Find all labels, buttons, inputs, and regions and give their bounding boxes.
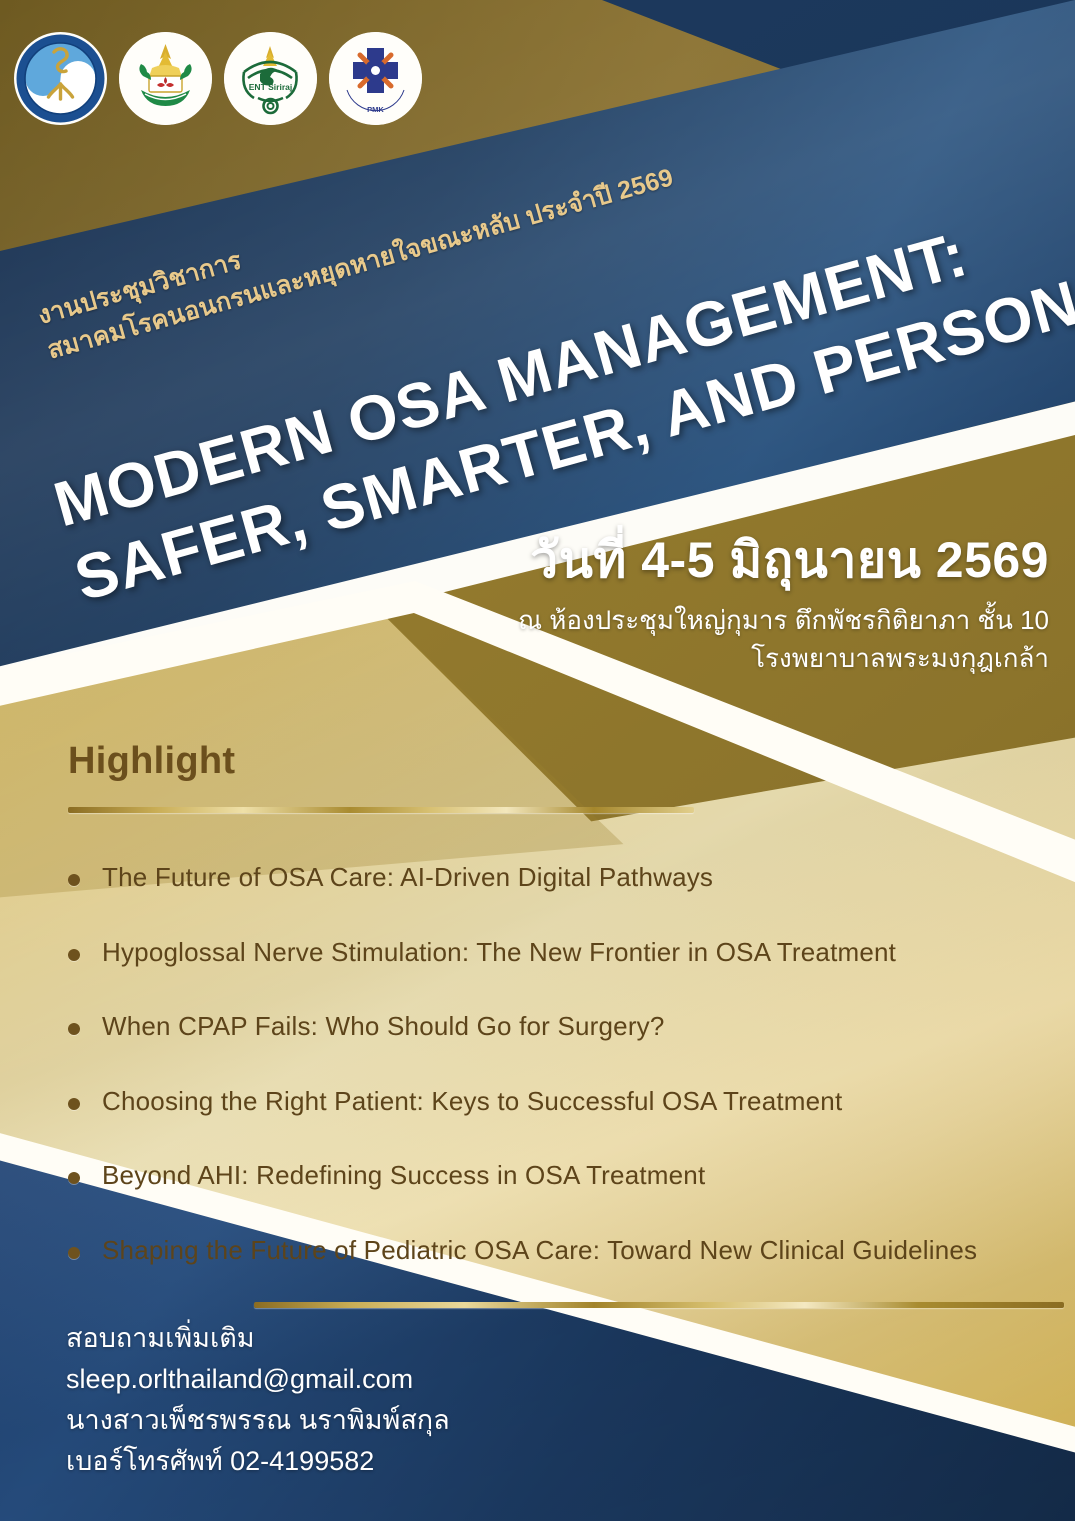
- event-venue-line-2: โรงพยาบาลพระมงกุฎเกล้า: [518, 640, 1049, 678]
- highlight-heading: Highlight: [68, 740, 1048, 783]
- bullet-dot-icon: [68, 949, 80, 961]
- organizer-logo-row: ENT Siriraj PMK: [14, 32, 422, 125]
- highlight-divider-bottom: [254, 1302, 1064, 1308]
- contact-heading: สอบถามเพิ่มเติม: [66, 1318, 450, 1359]
- list-item: The Future of OSA Care: AI-Driven Digita…: [68, 861, 1048, 894]
- bullet-dot-icon: [68, 1098, 80, 1110]
- royal-college-logo: [119, 32, 212, 125]
- ent-siriraj-logo: ENT Siriraj: [224, 32, 317, 125]
- list-item: Hypoglossal Nerve Stimulation: The New F…: [68, 936, 1048, 969]
- event-venue-line-1: ณ ห้องประชุมใหญ่กุมาร ตึกพัชรกิติยาภา ชั…: [518, 602, 1049, 640]
- list-item: Beyond AHI: Redefining Success in OSA Tr…: [68, 1159, 1048, 1192]
- phramongkutklao-hospital-logo: PMK: [329, 32, 422, 125]
- list-item-label: When CPAP Fails: Who Should Go for Surge…: [102, 1010, 665, 1043]
- bullet-dot-icon: [68, 1172, 80, 1184]
- bullet-dot-icon: [68, 1247, 80, 1259]
- highlight-section: Highlight The Future of OSA Care: AI-Dri…: [68, 740, 1048, 1308]
- sleep-apnea-association-logo: [14, 32, 107, 125]
- svg-text:ENT Siriraj: ENT Siriraj: [249, 82, 292, 92]
- list-item-label: Choosing the Right Patient: Keys to Succ…: [102, 1085, 842, 1118]
- list-item: When CPAP Fails: Who Should Go for Surge…: [68, 1010, 1048, 1043]
- contact-phone[interactable]: เบอร์โทรศัพท์ 02-4199582: [66, 1441, 450, 1482]
- bullet-dot-icon: [68, 874, 80, 886]
- highlight-divider-top: [68, 807, 694, 813]
- list-item-label: The Future of OSA Care: AI-Driven Digita…: [102, 861, 713, 894]
- highlight-list: The Future of OSA Care: AI-Driven Digita…: [68, 861, 1048, 1266]
- event-date-venue: วันที่ 4-5 มิถุนายน 2569 ณ ห้องประชุมใหญ…: [518, 530, 1049, 677]
- list-item-label: Beyond AHI: Redefining Success in OSA Tr…: [102, 1159, 705, 1192]
- list-item: Choosing the Right Patient: Keys to Succ…: [68, 1085, 1048, 1118]
- event-date: วันที่ 4-5 มิถุนายน 2569: [518, 530, 1049, 590]
- contact-email[interactable]: sleep.orlthailand@gmail.com: [66, 1359, 450, 1400]
- contact-person: นางสาวเพ็ชรพรรณ นราพิมพ์สกุล: [66, 1400, 450, 1441]
- list-item-label: Hypoglossal Nerve Stimulation: The New F…: [102, 936, 896, 969]
- list-item-label: Shaping the Future of Pediatric OSA Care…: [102, 1234, 977, 1267]
- conference-poster: ENT Siriraj PMK งานประชุมวิชาการ สมาคมโร…: [0, 0, 1075, 1521]
- bullet-dot-icon: [68, 1023, 80, 1035]
- list-item: Shaping the Future of Pediatric OSA Care…: [68, 1234, 1048, 1267]
- contact-block: สอบถามเพิ่มเติม sleep.orlthailand@gmail.…: [66, 1318, 450, 1482]
- svg-text:PMK: PMK: [367, 105, 384, 114]
